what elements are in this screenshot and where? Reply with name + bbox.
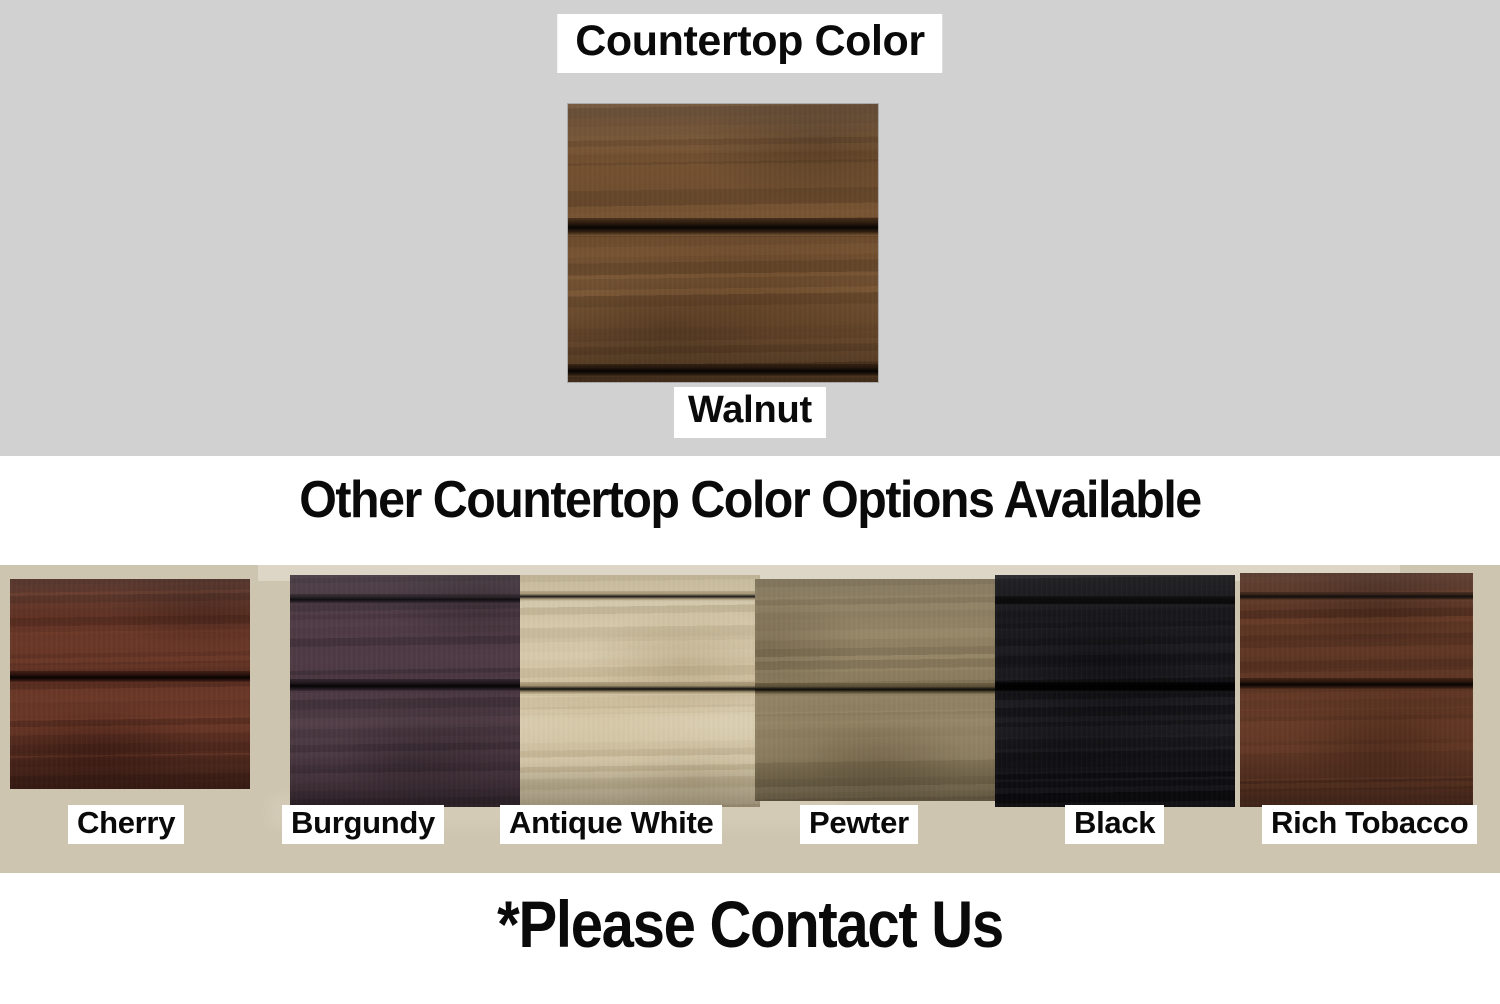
swatch-cherry[interactable] bbox=[10, 579, 250, 789]
swatch-label-rich-tobacco: Rich Tobacco bbox=[1262, 805, 1477, 844]
wood-texture bbox=[290, 575, 526, 807]
walnut-label: Walnut bbox=[674, 387, 826, 438]
swatch-burgundy[interactable] bbox=[290, 575, 526, 807]
swatch-label-burgundy: Burgundy bbox=[282, 805, 444, 844]
swatch-label-cherry: Cherry bbox=[68, 805, 184, 844]
swatch-label-antique-white: Antique White bbox=[500, 805, 722, 844]
wood-texture bbox=[995, 575, 1235, 807]
walnut-wood-texture bbox=[568, 104, 878, 382]
contact-note: *Please Contact Us bbox=[90, 886, 1410, 962]
wood-sheen bbox=[995, 575, 1235, 807]
featured-color-panel: Countertop Color Walnut bbox=[0, 0, 1500, 456]
wood-sheen bbox=[1240, 573, 1473, 807]
swatch-antique-white[interactable] bbox=[520, 575, 760, 807]
wood-texture bbox=[1240, 573, 1473, 807]
wood-texture bbox=[10, 579, 250, 789]
wood-texture bbox=[755, 579, 995, 801]
wood-sheen bbox=[10, 579, 250, 789]
swatch-pewter[interactable] bbox=[755, 579, 995, 801]
wood-texture bbox=[520, 575, 760, 807]
wood-sheen bbox=[568, 104, 878, 382]
swatch-label-pewter: Pewter bbox=[800, 805, 918, 844]
swatch-black[interactable] bbox=[995, 575, 1235, 807]
page-title: Countertop Color bbox=[557, 14, 942, 73]
swatch-label-black: Black bbox=[1065, 805, 1164, 844]
color-options-strip: CherryBurgundyAntique WhitePewterBlackRi… bbox=[0, 565, 1500, 873]
walnut-swatch[interactable] bbox=[568, 104, 878, 382]
options-heading: Other Countertop Color Options Available bbox=[53, 470, 1448, 530]
wood-sheen bbox=[520, 575, 760, 807]
wood-sheen bbox=[290, 575, 526, 807]
wood-sheen bbox=[755, 579, 995, 801]
swatch-rich-tobacco[interactable] bbox=[1240, 573, 1473, 807]
